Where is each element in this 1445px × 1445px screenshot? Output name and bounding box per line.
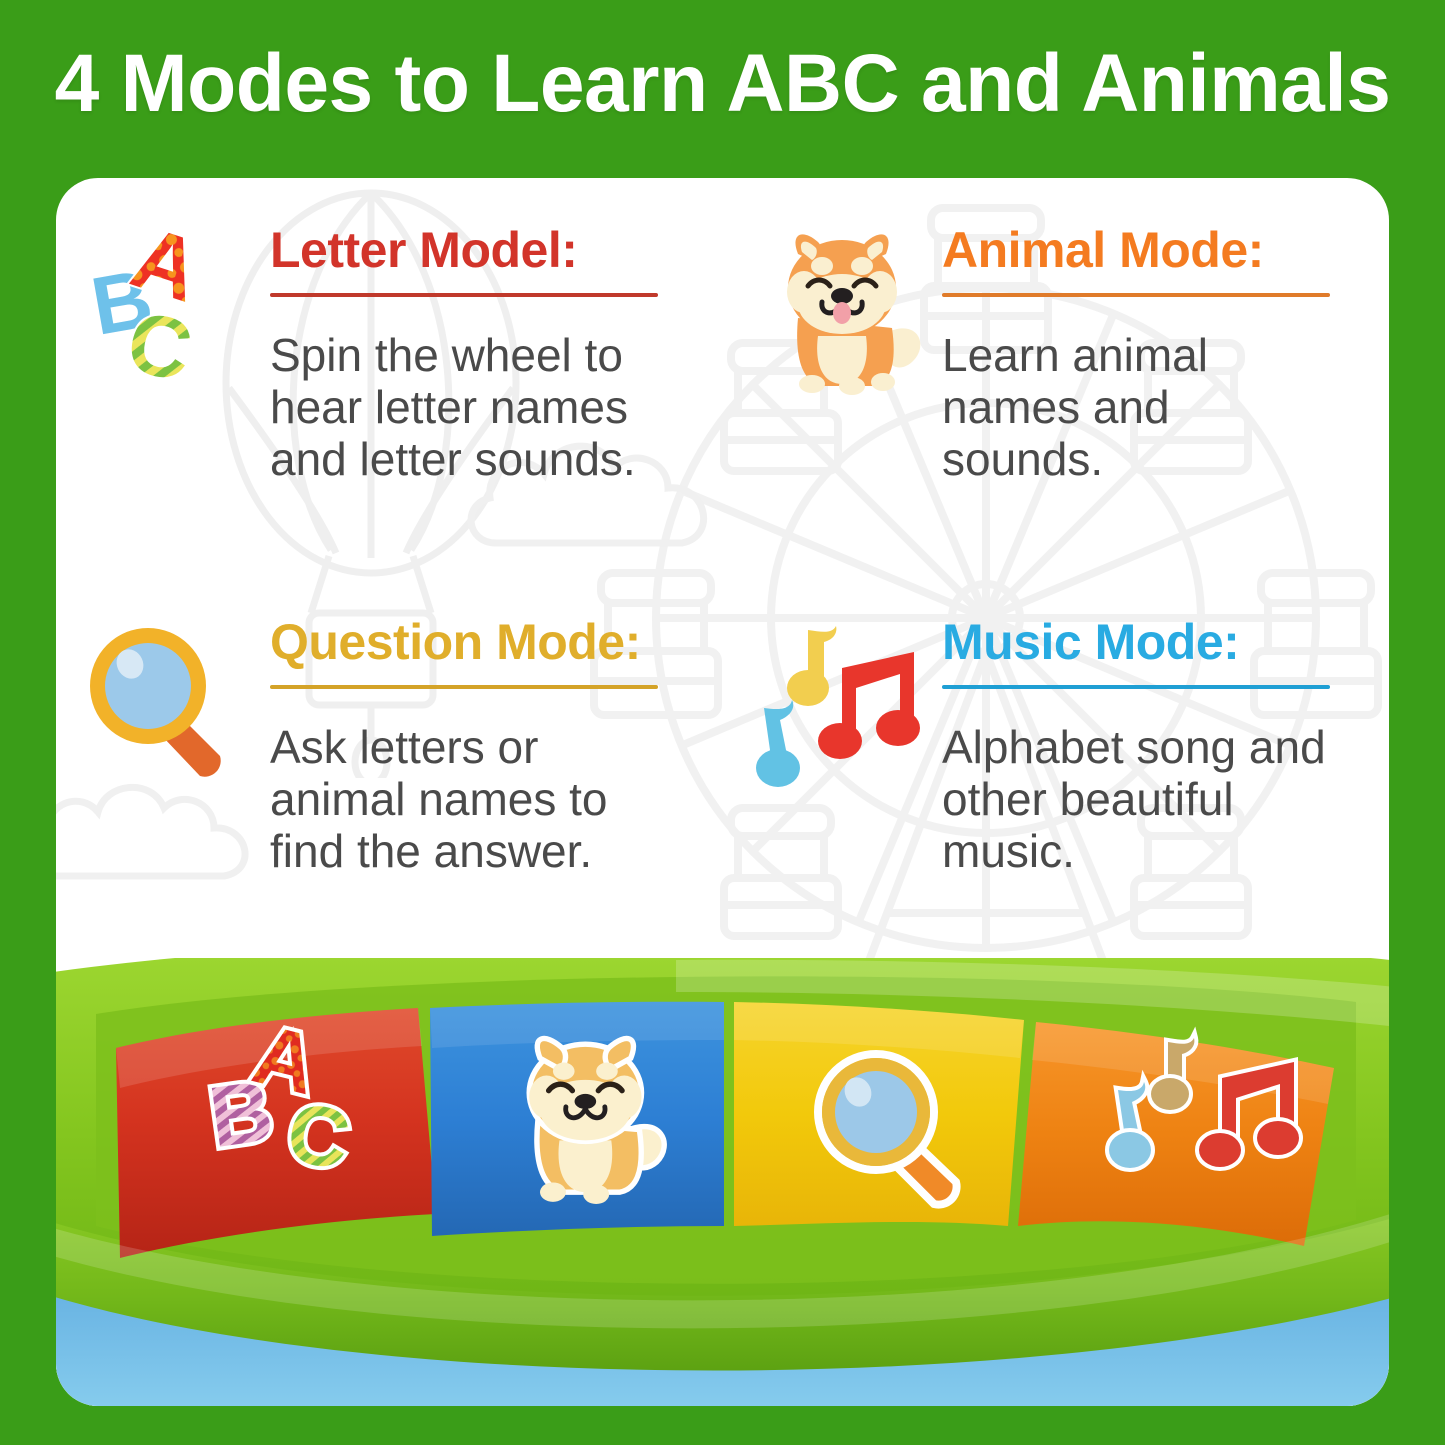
abc-letters-icon: B (74, 216, 264, 406)
mode-card-music: Music Mode: Alphabet song and other beau… (746, 608, 1386, 878)
mode-description-question: Ask letters or animal names to find the … (270, 721, 670, 878)
mode-heading-animal: Animal Mode: (942, 224, 1342, 277)
mode-heading-music: Music Mode: (942, 616, 1362, 669)
magnifying-glass-icon (74, 608, 264, 798)
mode-underline-question (270, 685, 658, 689)
mode-description-animal: Learn animal names and sounds. (942, 329, 1342, 486)
modes-grid: B (56, 178, 1389, 978)
mode-card-animal: Animal Mode: Learn animal names and soun… (746, 216, 1386, 486)
mode-underline-letter (270, 293, 658, 297)
product-photo: B A C (56, 958, 1389, 1406)
product-button-question (734, 1002, 1024, 1226)
mode-underline-music (942, 685, 1330, 689)
mode-description-letter: Spin the wheel to hear letter names and … (270, 329, 670, 486)
music-notes-icon (746, 608, 936, 798)
mode-card-letter: B (74, 216, 714, 486)
shiba-dog-icon (746, 216, 936, 406)
mode-heading-letter: Letter Model: (270, 224, 670, 277)
content-card: B (56, 178, 1389, 1406)
title-bar: 4 Modes to Learn ABC and Animals (0, 0, 1445, 168)
mode-underline-animal (942, 293, 1330, 297)
mode-heading-question: Question Mode: (270, 616, 670, 669)
mode-description-music: Alphabet song and other beautiful music. (942, 721, 1362, 878)
product-button-animal (430, 1002, 724, 1236)
mode-card-question: Question Mode: Ask letters or animal nam… (74, 608, 714, 878)
page-title: 4 Modes to Learn ABC and Animals (55, 37, 1391, 131)
poster-root: 4 Modes to Learn ABC and Animals (0, 0, 1445, 1445)
